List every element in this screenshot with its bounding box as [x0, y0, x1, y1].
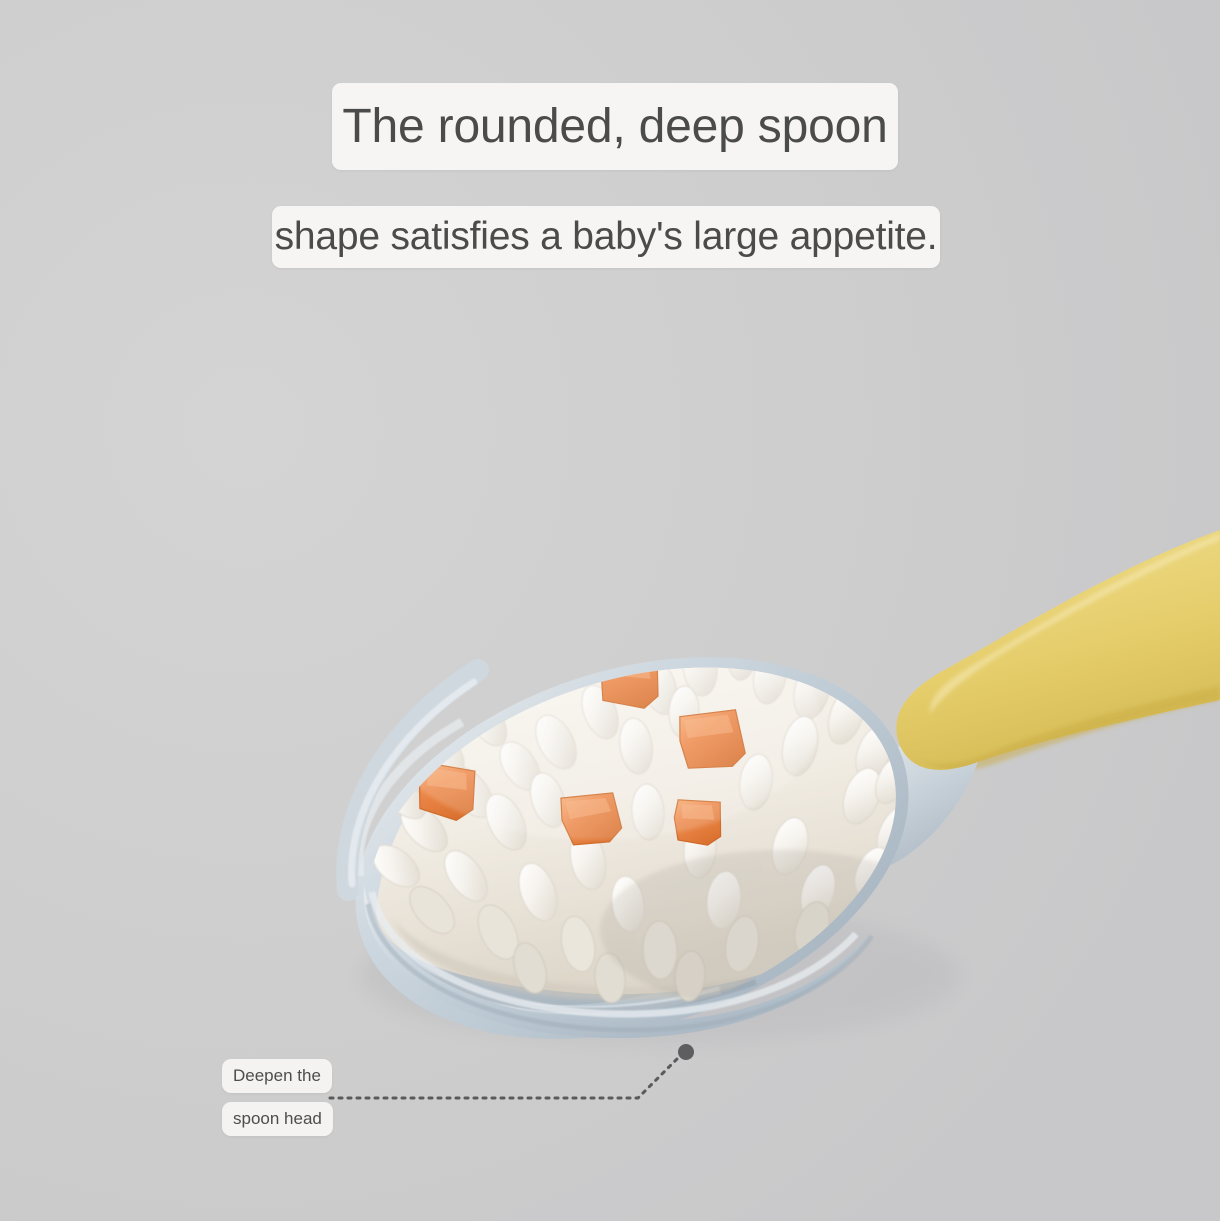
product-feature-image: The rounded, deep spoon shape satisfies …	[0, 0, 1220, 1221]
leader-line	[0, 0, 1220, 1221]
callout-group: Deepen the spoon head	[0, 0, 1220, 1221]
callout-label-line-1: Deepen the	[222, 1059, 332, 1093]
callout-marker-dot	[678, 1044, 694, 1060]
callout-label-line-2: spoon head	[222, 1102, 333, 1136]
